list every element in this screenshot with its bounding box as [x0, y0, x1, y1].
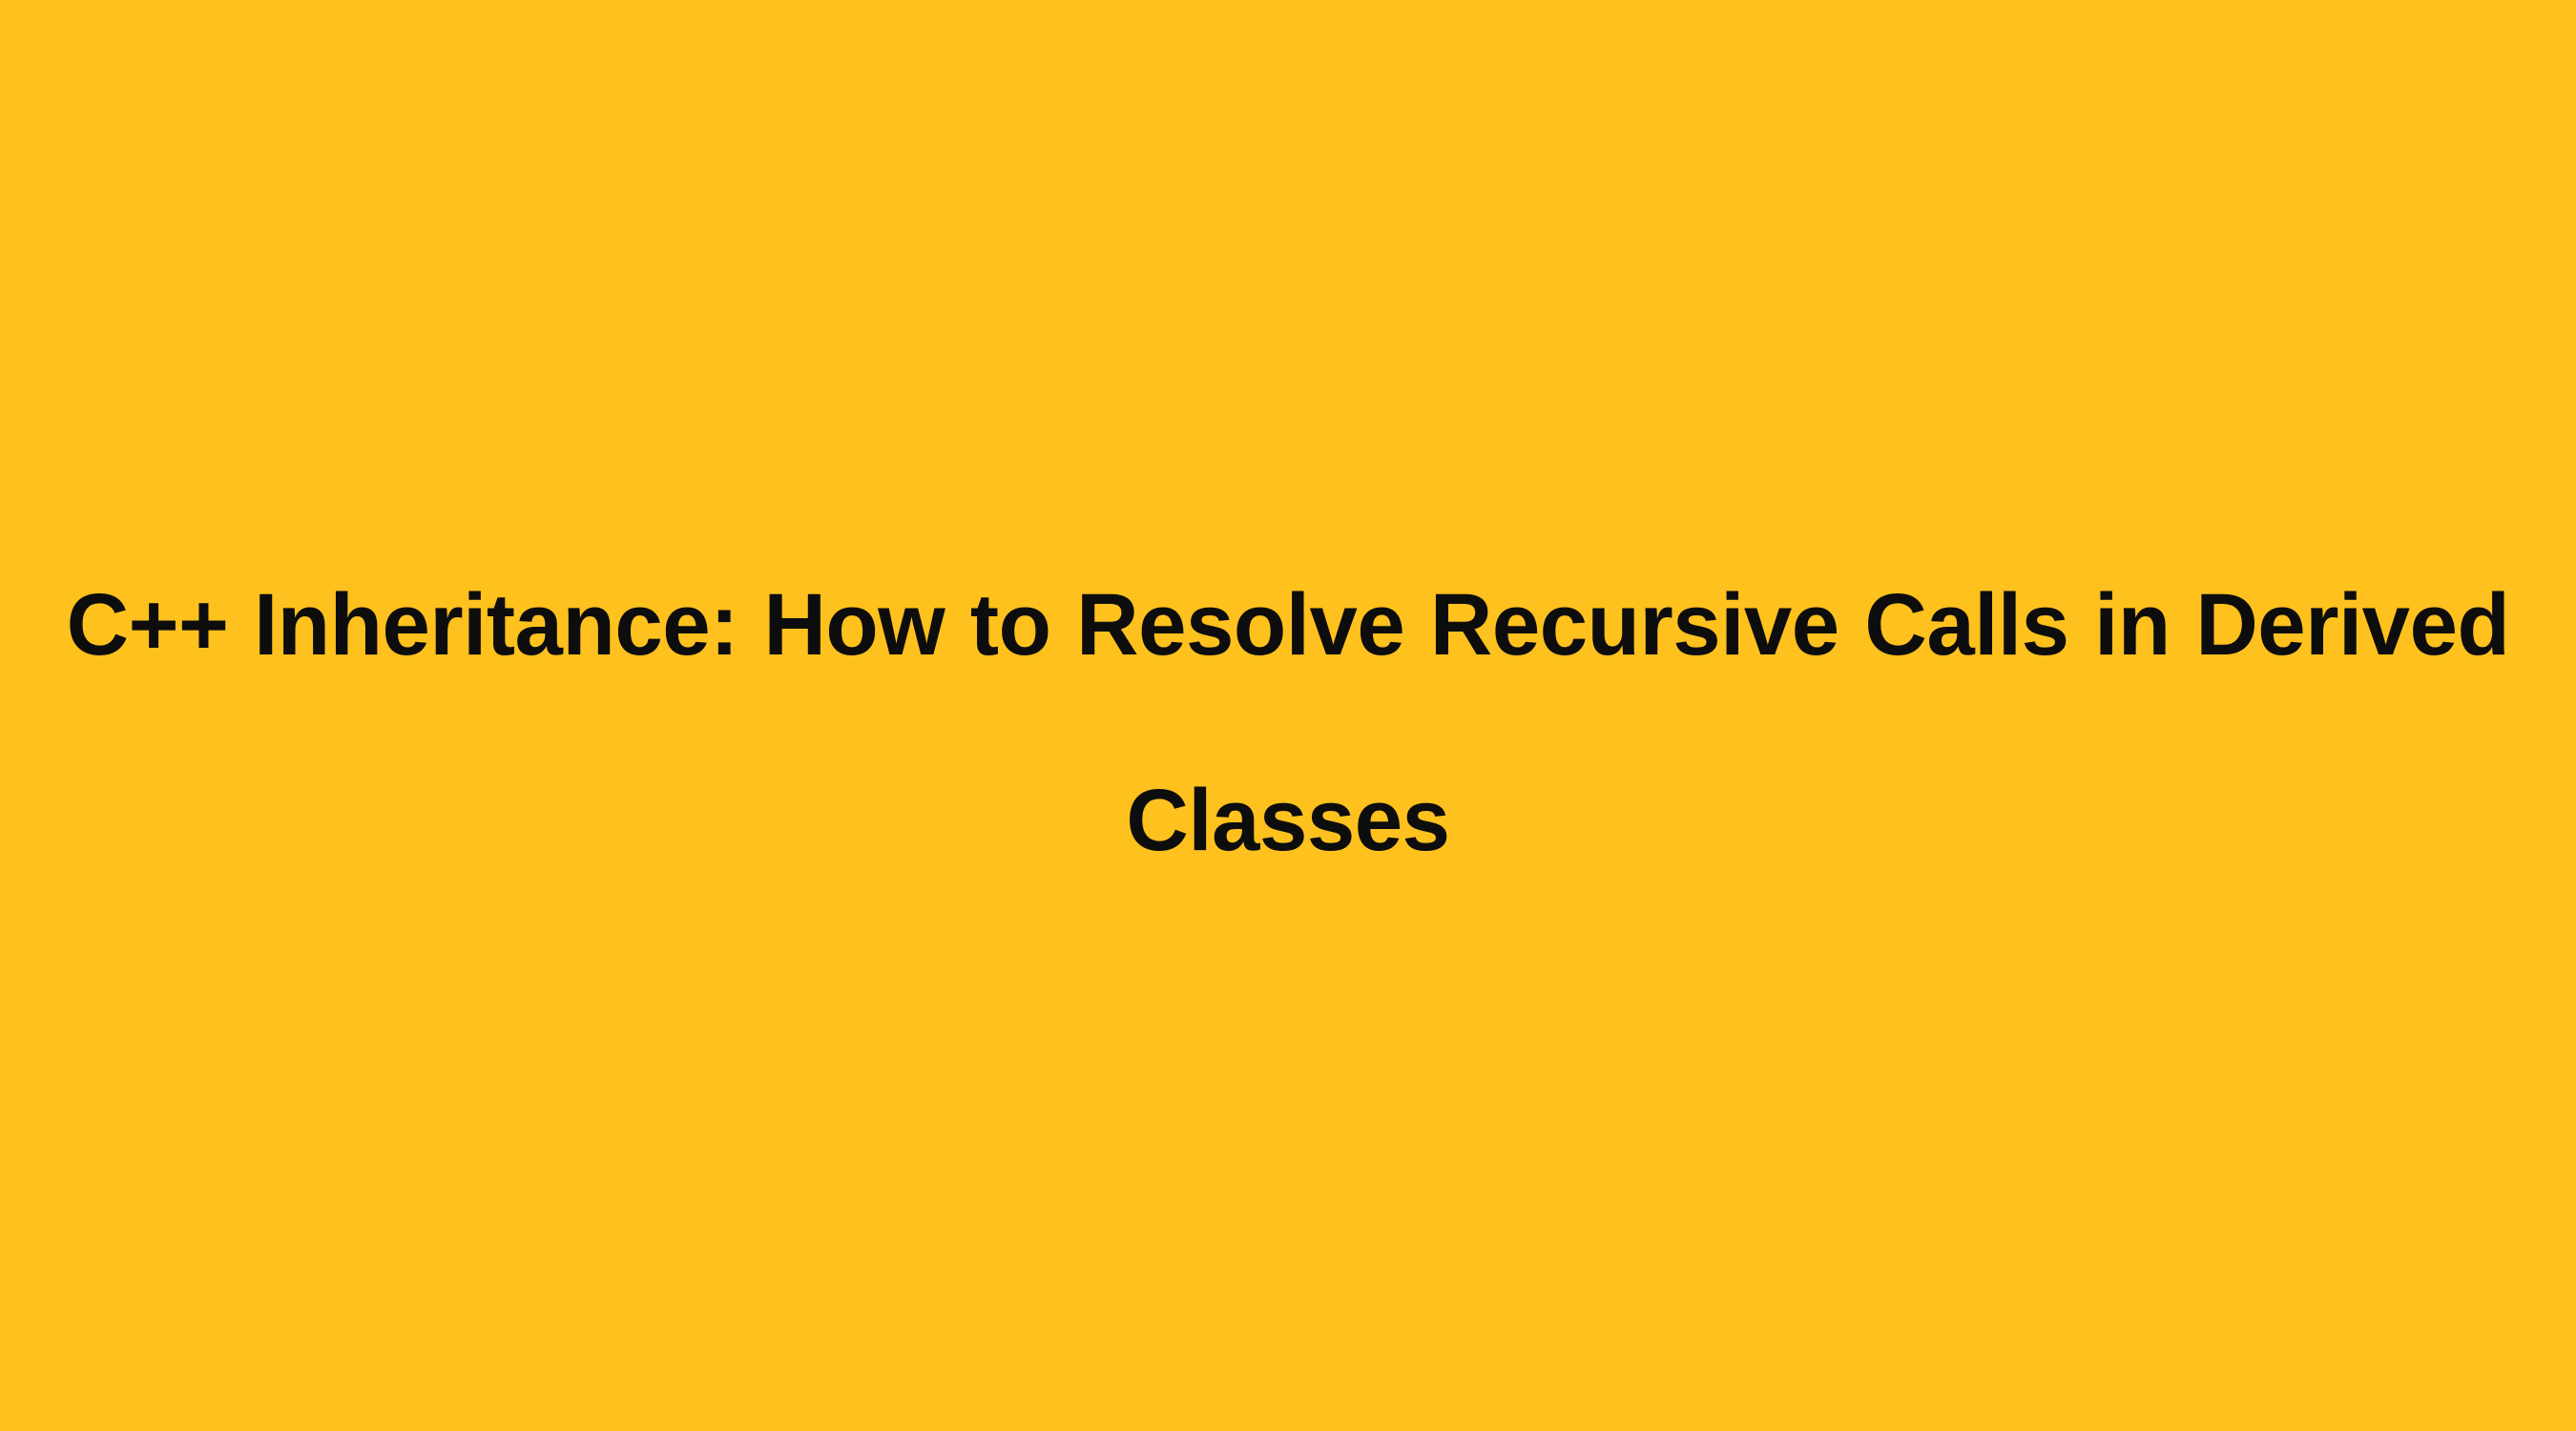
title-block: C++ Inheritance: How to Resolve Recursiv…	[0, 528, 2576, 919]
page-title: C++ Inheritance: How to Resolve Recursiv…	[59, 528, 2518, 919]
title-card: C++ Inheritance: How to Resolve Recursiv…	[0, 0, 2576, 1431]
